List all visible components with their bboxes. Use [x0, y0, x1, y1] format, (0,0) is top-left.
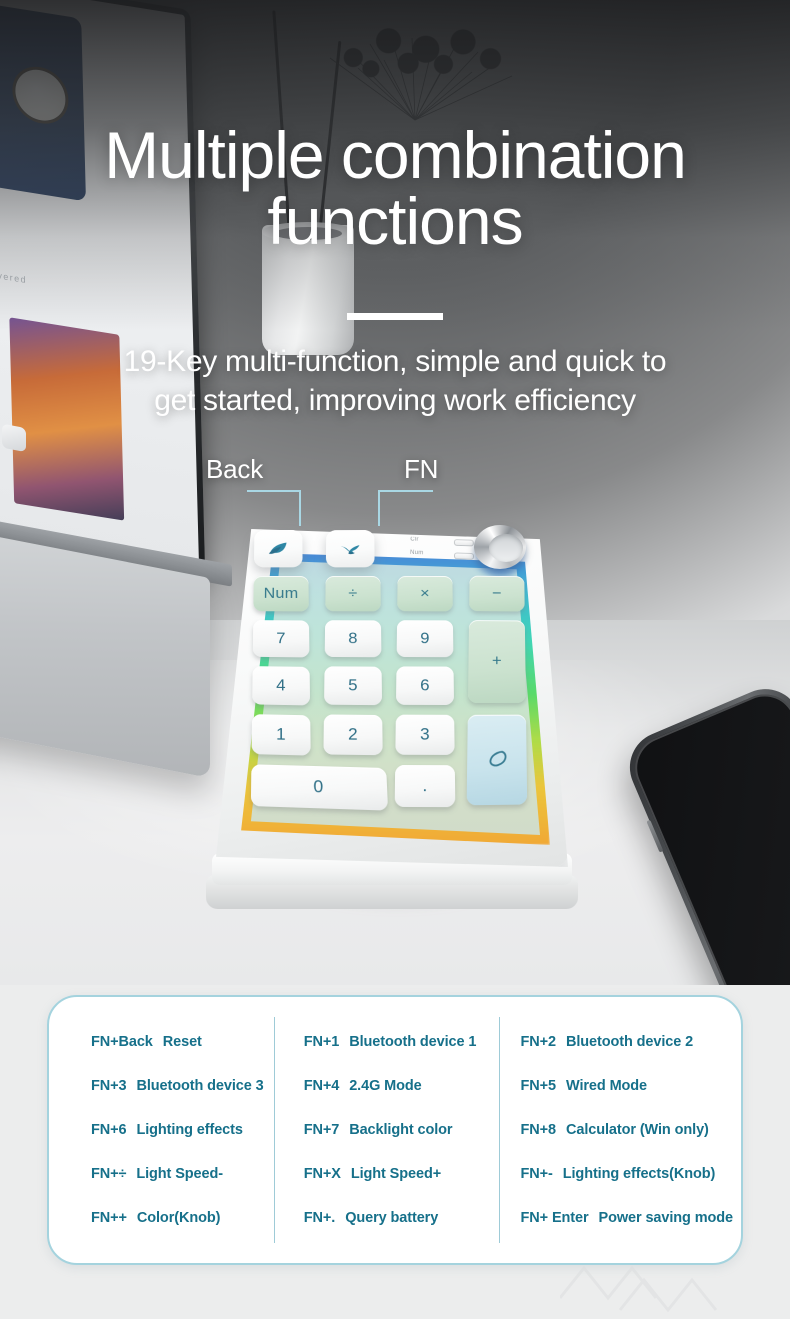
key-1[interactable]: 1 — [252, 714, 311, 755]
key-7[interactable]: 7 — [253, 620, 310, 657]
legend-row: FN+Back Reset — [57, 1020, 266, 1064]
legend-combo: FN+ Enter — [521, 1196, 589, 1240]
key-2[interactable]: 2 — [323, 714, 382, 755]
legend-row: FN+5 Wired Mode — [507, 1064, 733, 1108]
key-4[interactable]: 4 — [252, 666, 310, 705]
legend-row: FN+7 Backlight color — [282, 1108, 491, 1152]
legend-desc: Query battery — [345, 1196, 438, 1240]
legend-desc: Backlight color — [349, 1108, 452, 1152]
legend-desc: Bluetooth device 2 — [566, 1020, 693, 1064]
key-divide[interactable]: ÷ — [325, 576, 381, 611]
dock-app-icon — [2, 424, 26, 452]
legend-desc: Bluetooth device 1 — [349, 1020, 476, 1064]
legend-row: FN+÷ Light Speed- — [57, 1152, 266, 1196]
legend-row: FN++ Color(Knob) — [57, 1196, 266, 1240]
key-enter[interactable] — [467, 715, 528, 806]
legend-combo: FN+7 — [304, 1108, 339, 1152]
legend-row: FN+2 Bluetooth device 2 — [507, 1020, 733, 1064]
legend-combo: FN+4 — [304, 1064, 339, 1108]
fn-key[interactable] — [326, 530, 375, 567]
legend-desc: Calculator (Win only) — [566, 1108, 709, 1152]
key-multiply[interactable]: × — [397, 576, 453, 611]
title-line-1: Multiple combination — [104, 118, 686, 192]
legend-row: FN+. Query battery — [282, 1196, 491, 1240]
num-key[interactable]: Num — [253, 576, 309, 611]
legend-desc: 2.4G Mode — [349, 1064, 421, 1108]
key-minus[interactable]: − — [469, 576, 525, 612]
legend-row: FN+X Light Speed+ — [282, 1152, 491, 1196]
legend-desc: Light Speed- — [136, 1152, 223, 1196]
legend-desc: Power saving mode — [599, 1196, 733, 1240]
key-plus[interactable]: + — [468, 620, 526, 703]
leaf-icon — [268, 541, 289, 556]
key-9[interactable]: 9 — [397, 620, 454, 657]
numeric-keypad-product: Clr Num — [196, 505, 596, 930]
legend-combo: FN+6 — [91, 1108, 126, 1152]
keypad-key-field: Num 7 4 1 0 ÷ 8 5 2 — [242, 557, 554, 847]
callout-label-back: Back — [206, 454, 263, 485]
legend-desc: Lighting effects — [136, 1108, 242, 1152]
key-6[interactable]: 6 — [396, 666, 454, 705]
callout-leader-fn-horizontal — [378, 490, 433, 492]
key-column-3: × 9 6 3 . — [390, 569, 460, 853]
legend-combo: FN+X — [304, 1152, 341, 1196]
legend-combo: FN+- — [521, 1152, 553, 1196]
legend-combo: FN+3 — [91, 1064, 126, 1108]
title-line-2: functions — [0, 188, 790, 254]
subtitle-line-2: get started, improving work efficiency — [0, 381, 790, 420]
back-key[interactable] — [254, 530, 303, 567]
legend-desc: Wired Mode — [566, 1064, 647, 1108]
bird-icon — [340, 542, 361, 556]
key-column-1: Num 7 4 1 0 — [246, 569, 316, 854]
key-column-4: − + — [462, 569, 532, 854]
legend-combo: FN+1 — [304, 1020, 339, 1064]
key-5[interactable]: 5 — [324, 666, 382, 705]
indicator-label: Num — [410, 550, 424, 556]
legend-column-2: FN+1 Bluetooth device 1 FN+4 2.4G Mode F… — [274, 997, 499, 1263]
legend-combo: FN+2 — [521, 1020, 556, 1064]
legend-combo: FN+8 — [521, 1108, 556, 1152]
legend-column-3: FN+2 Bluetooth device 2 FN+5 Wired Mode … — [499, 997, 741, 1263]
key-column-2: ÷ 8 5 2 — [318, 569, 388, 853]
legend-grid: FN+Back Reset FN+3 Bluetooth device 3 FN… — [49, 997, 741, 1263]
legend-row: FN+ Enter Power saving mode — [507, 1196, 733, 1240]
page-title: Multiple combination functions — [0, 122, 790, 254]
background-watermark — [560, 1258, 790, 1314]
legend-row: FN+3 Bluetooth device 3 — [57, 1064, 266, 1108]
legend-desc: Light Speed+ — [351, 1152, 441, 1196]
key-3[interactable]: 3 — [395, 715, 454, 755]
legend-desc: Color(Knob) — [137, 1196, 220, 1240]
indicator-label: Clr — [410, 537, 419, 543]
title-divider — [347, 313, 443, 320]
legend-combo: FN+÷ — [91, 1152, 126, 1196]
key-8[interactable]: 8 — [325, 620, 382, 657]
enter-arrow-icon — [484, 748, 511, 771]
legend-row: FN+1 Bluetooth device 1 — [282, 1020, 491, 1064]
legend-desc: Bluetooth device 3 — [136, 1064, 263, 1108]
legend-row: FN+8 Calculator (Win only) — [507, 1108, 733, 1152]
page-subtitle: 19-Key multi-function, simple and quick … — [0, 342, 790, 420]
legend-combo: FN+5 — [521, 1064, 556, 1108]
legend-combo: FN+Back — [91, 1020, 153, 1064]
legend-row: FN+6 Lighting effects — [57, 1108, 266, 1152]
key-combination-legend: FN+Back Reset FN+3 Bluetooth device 3 FN… — [47, 995, 743, 1265]
hero-photo-scene: ettuccine with Delivered — [0, 0, 790, 985]
key-decimal[interactable]: . — [395, 765, 456, 807]
legend-column-1: FN+Back Reset FN+3 Bluetooth device 3 FN… — [49, 997, 274, 1263]
legend-row: FN+- Lighting effects(Knob) — [507, 1152, 733, 1196]
callout-label-fn: FN — [404, 454, 438, 485]
callout-leader-back-horizontal — [247, 490, 300, 492]
legend-combo: FN+. — [304, 1196, 335, 1240]
subtitle-line-1: 19-Key multi-function, simple and quick … — [0, 342, 790, 381]
legend-desc: Reset — [163, 1020, 202, 1064]
legend-row: FN+4 2.4G Mode — [282, 1064, 491, 1108]
legend-desc: Lighting effects(Knob) — [563, 1152, 715, 1196]
legend-combo: FN++ — [91, 1196, 127, 1240]
